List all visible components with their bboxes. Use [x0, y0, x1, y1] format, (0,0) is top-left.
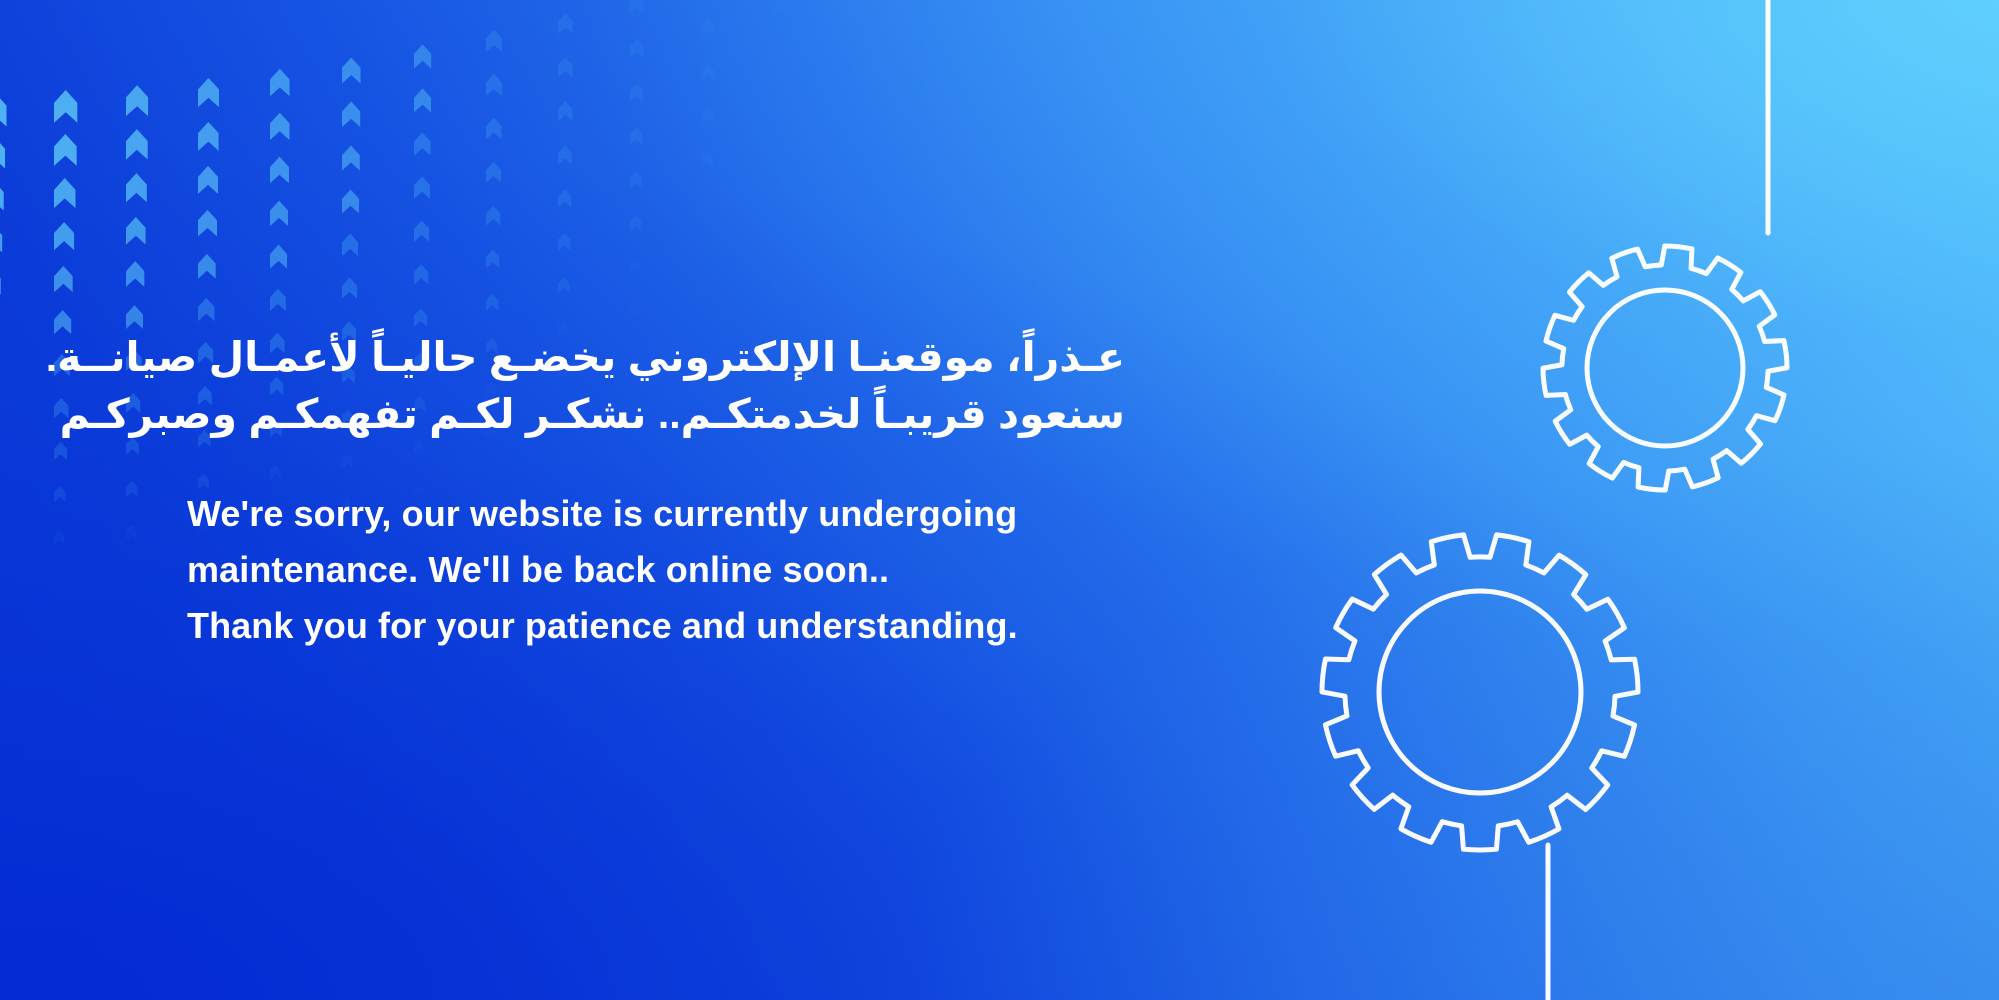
arabic-line-1: عـذراً، موقعنـا الإلكتروني يخضـع حاليـاً… — [187, 330, 1125, 384]
maintenance-message-block: عـذراً، موقعنـا الإلكتروني يخضـع حاليـاً… — [187, 330, 1147, 649]
maintenance-message-english: We're sorry, our website is currently un… — [187, 491, 1147, 649]
maintenance-page: عـذراً، موقعنـا الإلكتروني يخضـع حاليـاً… — [0, 0, 1999, 1000]
arabic-line-2: سنعود قريبـاً لخدمتكـم.. نشكـر لكـم تفهم… — [187, 387, 1125, 441]
english-line-2: maintenance. We'll be back online soon.. — [187, 547, 1147, 593]
english-line-1: We're sorry, our website is currently un… — [187, 491, 1147, 537]
english-line-3: Thank you for your patience and understa… — [187, 603, 1147, 649]
maintenance-message-arabic: عـذراً، موقعنـا الإلكتروني يخضـع حاليـاً… — [187, 330, 1125, 441]
